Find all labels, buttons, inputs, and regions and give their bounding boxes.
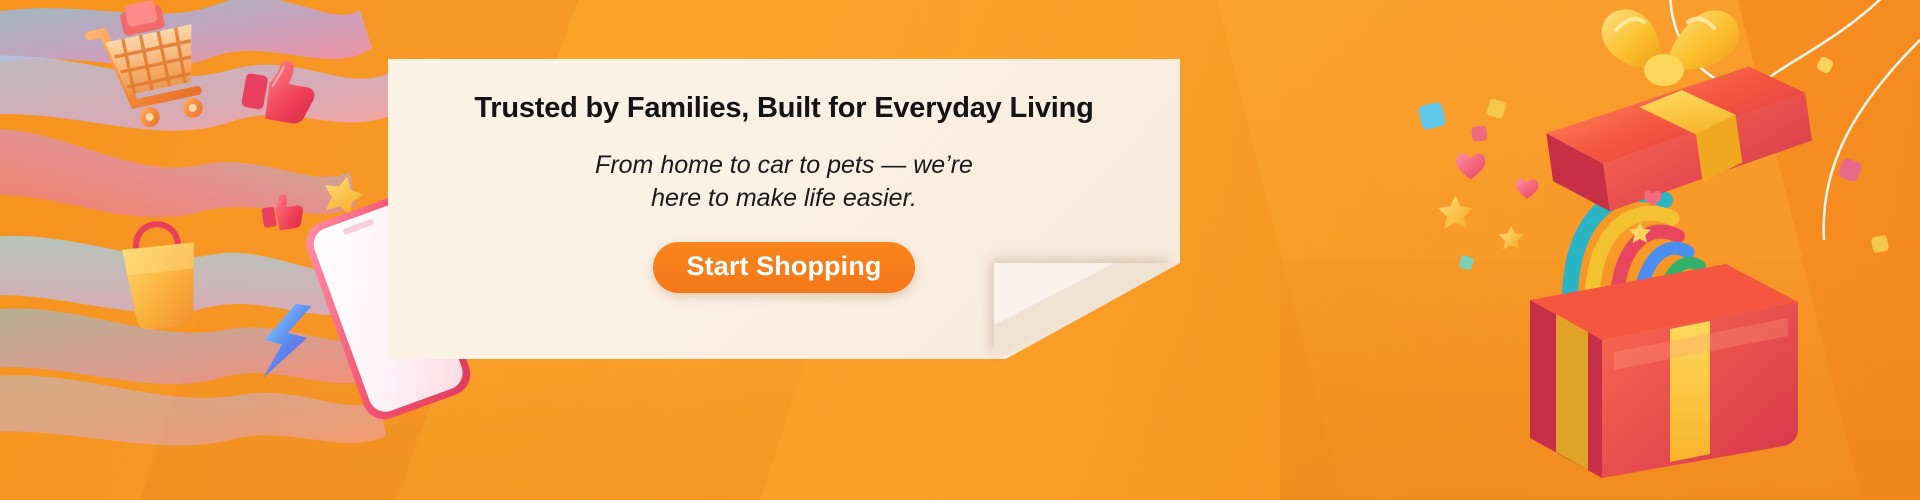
- star-icon: [1499, 226, 1524, 250]
- star-icon: [1438, 196, 1472, 229]
- shopping-bag-icon: [120, 220, 202, 331]
- promotional-banner: Trusted by Families, Built for Everyday …: [0, 0, 1920, 500]
- card-content: Trusted by Families, Built for Everyday …: [388, 59, 1180, 359]
- gift-box-icon: [1541, 59, 1818, 218]
- confetti-square: [1837, 157, 1863, 183]
- right-decoration-group: [1420, 0, 1920, 500]
- confetti-square: [1486, 98, 1507, 119]
- confetti-square: [1816, 56, 1835, 75]
- subtitle-line-1: From home to car to pets — we’re: [595, 149, 973, 182]
- subtitle-text: From home to car to pets — we’re here to…: [595, 149, 973, 214]
- gift-box-icon: [1530, 264, 1798, 478]
- heart-icon: [1516, 179, 1538, 199]
- subtitle-line-2: here to make life easier.: [595, 182, 973, 215]
- page-title: Trusted by Families, Built for Everyday …: [474, 92, 1093, 125]
- confetti-square: [1417, 101, 1446, 130]
- confetti-square: [1871, 235, 1890, 254]
- heart-icon: [1456, 153, 1485, 179]
- confetti-square: [1471, 125, 1488, 142]
- confetti-square: [1458, 255, 1474, 271]
- gift-bow-icon: [1602, 10, 1739, 86]
- start-shopping-button[interactable]: Start Shopping: [653, 242, 916, 293]
